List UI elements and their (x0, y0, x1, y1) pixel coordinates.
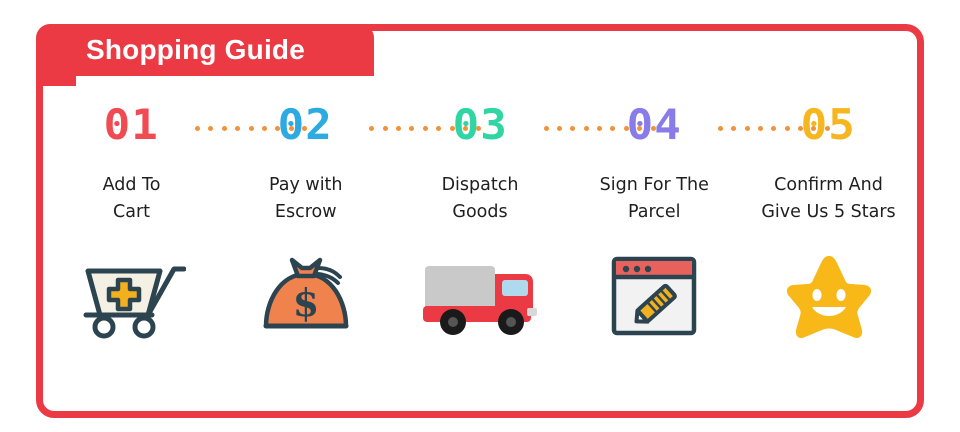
step-2-label: Pay with Escrow (218, 172, 393, 226)
delivery-truck-icon (415, 248, 545, 344)
step-5-label: Confirm And Give Us 5 Stars (741, 172, 916, 226)
step-3-label-line2: Goods (393, 199, 568, 226)
step-4-label-line2: Parcel (567, 199, 742, 226)
step-2-number: 02 (278, 100, 333, 150)
shopping-guide-banner: Shopping Guide 01 Add To Cart (0, 0, 960, 432)
step-2-label-line2: Escrow (218, 199, 393, 226)
step-4-label-line1: Sign For The (567, 172, 742, 199)
smiling-star-icon (783, 248, 875, 344)
step-5-label-line2: Give Us 5 Stars (741, 199, 916, 226)
step-3-label-line1: Dispatch (393, 172, 568, 199)
step-1-label: Add To Cart (44, 172, 219, 226)
window-dot-3 (645, 266, 651, 272)
step-1-label-line1: Add To (44, 172, 219, 199)
page-title: Shopping Guide (86, 34, 305, 66)
money-bag-icon: $ (258, 248, 354, 344)
steps-container: 01 Add To Cart (50, 100, 910, 400)
step-4: 04 Sign For The Parcel (573, 100, 736, 344)
window-dot-1 (623, 266, 629, 272)
step-5: 05 Confirm And Give Us 5 Stars (747, 100, 910, 344)
window-dot-2 (634, 266, 640, 272)
step-2: 02 Pay with Escrow (224, 100, 387, 344)
step-3-label: Dispatch Goods (393, 172, 568, 226)
step-5-label-line1: Confirm And (741, 172, 916, 199)
step-2-label-line1: Pay with (218, 172, 393, 199)
svg-text:$: $ (293, 280, 319, 325)
shopping-cart-icon (78, 248, 186, 344)
step-3-number: 03 (452, 100, 507, 150)
step-1: 01 Add To Cart (50, 100, 213, 344)
sign-document-pencil-icon (608, 248, 700, 344)
step-4-label: Sign For The Parcel (567, 172, 742, 226)
step-1-number: 01 (104, 100, 159, 150)
step-4-number: 04 (627, 100, 682, 150)
step-5-number: 05 (801, 100, 856, 150)
title-tab: Shopping Guide (36, 24, 374, 76)
step-1-label-line2: Cart (44, 199, 219, 226)
step-3: 03 Dispatch Goods (399, 100, 562, 344)
